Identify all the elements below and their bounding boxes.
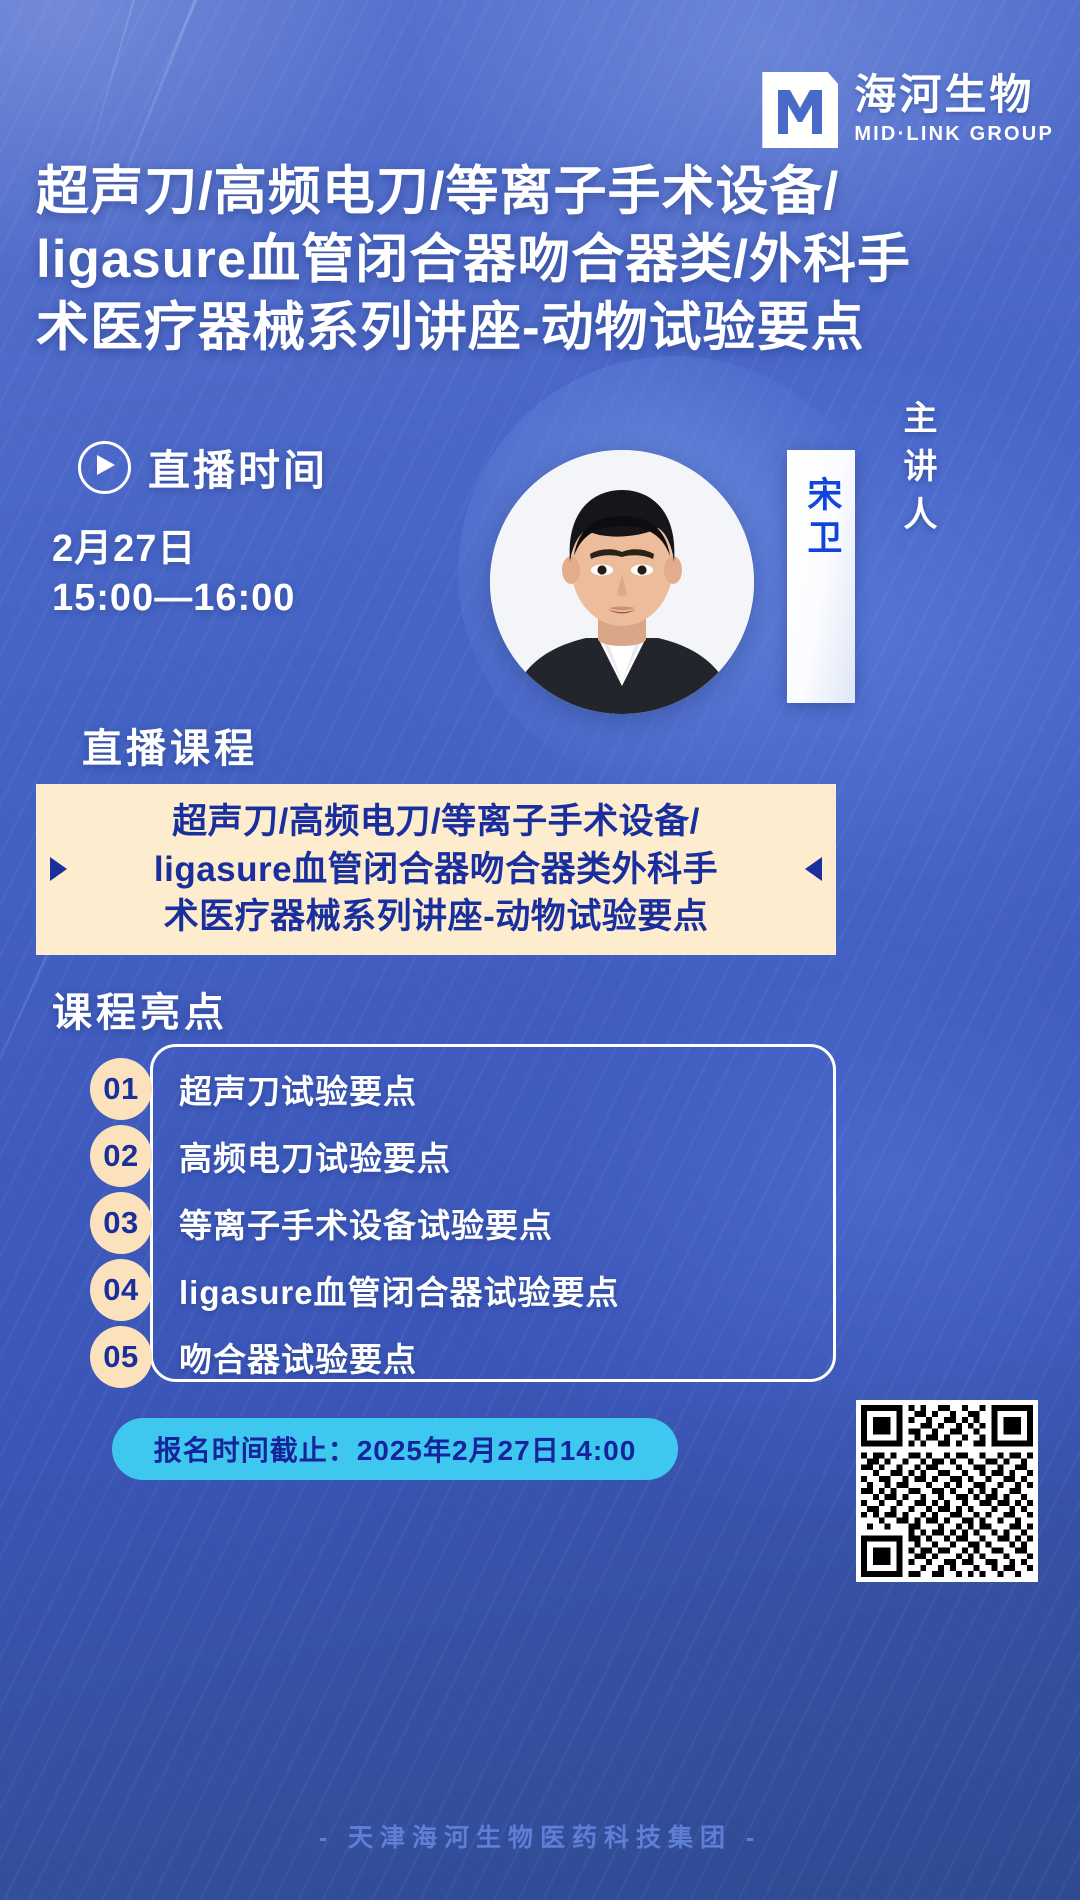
- list-item-label: 等离子手术设备试验要点: [179, 1199, 553, 1247]
- triangle-right-icon: [50, 857, 67, 881]
- list-item-label: 高频电刀试验要点: [179, 1132, 451, 1180]
- triangle-left-icon: [805, 857, 822, 881]
- speaker-nameplate: 宋卫: [787, 450, 855, 703]
- highlights-list: 01 超声刀试验要点 02 高频电刀试验要点 03 等离子手术设备试验要点 04…: [90, 1056, 850, 1391]
- list-item-label: ligasure血管闭合器试验要点: [179, 1266, 620, 1314]
- live-time-label: 直播时间: [148, 437, 328, 498]
- list-item-number: 05: [90, 1326, 152, 1388]
- registration-deadline-badge: 报名时间截止：2025年2月27日14:00: [112, 1418, 678, 1480]
- brand-name-en: MID·LINK GROUP: [854, 123, 1054, 146]
- course-line-2: ligasure血管闭合器吻合器类外科手: [154, 846, 718, 894]
- live-time-value: 2月27日 15:00—16:00: [52, 525, 295, 624]
- speaker-name: 宋卫: [803, 476, 840, 562]
- list-item-label: 吻合器试验要点: [179, 1333, 417, 1381]
- list-item-number: 02: [90, 1125, 152, 1187]
- list-item-label: 超声刀试验要点: [179, 1065, 417, 1113]
- page-title: 超声刀/高频电刀/等离子手术设备/ ligasure血管闭合器吻合器类/外科手 …: [36, 158, 1046, 361]
- list-item-number: 04: [90, 1259, 152, 1321]
- list-item-number: 01: [90, 1058, 152, 1120]
- list-item-number: 03: [90, 1192, 152, 1254]
- live-time-header: 直播时间: [78, 437, 328, 498]
- avatar: [490, 450, 754, 714]
- footer-company: - 天津海河生物医药科技集团 -: [0, 1818, 1080, 1854]
- list-item: 04 ligasure血管闭合器试验要点: [90, 1257, 850, 1323]
- poster-root: 海河生物 MID·LINK GROUP 超声刀/高频电刀/等离子手术设备/ li…: [0, 0, 1080, 1900]
- course-card: 超声刀/高频电刀/等离子手术设备/ ligasure血管闭合器吻合器类外科手 术…: [36, 784, 836, 955]
- course-section-title: 直播课程: [82, 716, 258, 774]
- speaker-label: 主讲人: [880, 400, 942, 544]
- headline-line-3: 术医疗器械系列讲座-动物试验要点: [36, 294, 1046, 362]
- course-line-1: 超声刀/高频电刀/等离子手术设备/: [154, 798, 718, 846]
- list-item: 03 等离子手术设备试验要点: [90, 1190, 850, 1256]
- course-line-3: 术医疗器械系列讲座-动物试验要点: [154, 893, 718, 941]
- live-time-range: 15:00—16:00: [52, 574, 295, 623]
- brand-logo: 海河生物 MID·LINK GROUP: [762, 72, 1054, 148]
- brand-text: 海河生物 MID·LINK GROUP: [854, 72, 1054, 146]
- play-circle-icon: [78, 441, 131, 494]
- live-date: 2月27日: [52, 525, 295, 574]
- qr-code-icon[interactable]: [856, 1400, 1038, 1582]
- list-item: 01 超声刀试验要点: [90, 1056, 850, 1122]
- brand-name-cn: 海河生物: [854, 74, 1054, 116]
- headline-line-1: 超声刀/高频电刀/等离子手术设备/: [36, 158, 1046, 226]
- course-card-text: 超声刀/高频电刀/等离子手术设备/ ligasure血管闭合器吻合器类外科手 术…: [108, 784, 764, 955]
- list-item: 02 高频电刀试验要点: [90, 1123, 850, 1189]
- headline-line-2: ligasure血管闭合器吻合器类/外科手: [36, 226, 1046, 294]
- midlink-m-logo-icon: [762, 72, 838, 148]
- highlights-section-title: 课程亮点: [52, 980, 228, 1038]
- list-item: 05 吻合器试验要点: [90, 1324, 850, 1390]
